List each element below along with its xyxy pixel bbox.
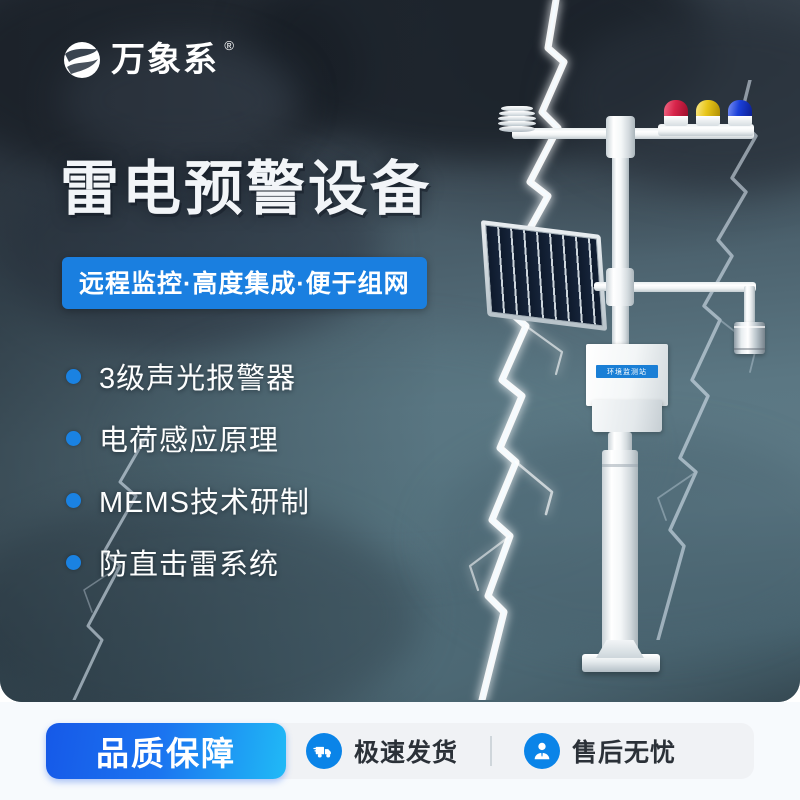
page-title: 雷电预警设备: [60, 158, 432, 222]
arm-joint: [606, 268, 634, 306]
delivery-truck-icon: [306, 733, 342, 769]
cabinet-label-plate: 环境监测站: [596, 365, 658, 378]
support-mast-lower: [602, 450, 638, 660]
list-item: 电荷感应原理: [66, 407, 310, 469]
service-item-after-sales[interactable]: 售后无忧: [524, 733, 676, 769]
brand-logo: 万象系 ®: [62, 40, 219, 80]
service-label: 极速发货: [354, 733, 458, 769]
feature-label: 3级声光报警器: [99, 355, 296, 397]
hero-banner: 万象系 ® 雷电预警设备 远程监控·高度集成·便于组网 3级声光报警器 电荷感应…: [0, 0, 800, 702]
lightning-warning-device: 环境监测站: [430, 60, 800, 700]
mast-seam: [602, 464, 638, 467]
bullet-dot-icon: [66, 555, 81, 570]
feature-label: 防直击雷系统: [99, 541, 279, 583]
red-beacon: [664, 100, 688, 126]
list-item: 3级声光报警器: [66, 345, 310, 407]
feature-list: 3级声光报警器 电荷感应原理 MEMS技术研制 防直击雷系统: [66, 345, 310, 593]
feature-label: MEMS技术研制: [99, 479, 310, 521]
blue-beacon: [728, 100, 752, 126]
subtitle-badge: 远程监控·高度集成·便于组网: [62, 257, 427, 309]
list-item: 防直击雷系统: [66, 531, 310, 593]
control-cabinet: 环境监测站: [586, 344, 668, 432]
service-item-fast-delivery[interactable]: 极速发货: [306, 733, 458, 769]
bullet-dot-icon: [66, 431, 81, 446]
bullet-dot-icon: [66, 493, 81, 508]
service-items: 极速发货 售后无忧: [272, 723, 754, 779]
crossbar-right-arm: [616, 282, 756, 292]
brand-name: 万象系 ®: [111, 43, 219, 77]
bullet-dot-icon: [66, 369, 81, 384]
service-divider: [490, 736, 492, 766]
cabinet-label: 环境监测站: [607, 367, 647, 377]
list-item: MEMS技术研制: [66, 469, 310, 531]
swirl-globe-icon: [62, 40, 102, 80]
yellow-beacon: [696, 100, 720, 126]
support-agent-icon: [524, 733, 560, 769]
field-mill-sensor: [734, 322, 765, 354]
footer-service-bar: 品质保障 极速发货: [0, 702, 800, 800]
quality-guarantee-badge[interactable]: 品质保障: [46, 723, 286, 779]
registered-trademark-icon: ®: [224, 39, 236, 52]
feature-label: 电荷感应原理: [99, 417, 279, 459]
solar-panel: [481, 220, 607, 331]
service-label: 售后无忧: [572, 733, 676, 769]
brand-name-text: 万象系: [111, 41, 219, 79]
radiation-shield-sensor: [498, 106, 536, 132]
crossbar-joint: [606, 116, 635, 158]
